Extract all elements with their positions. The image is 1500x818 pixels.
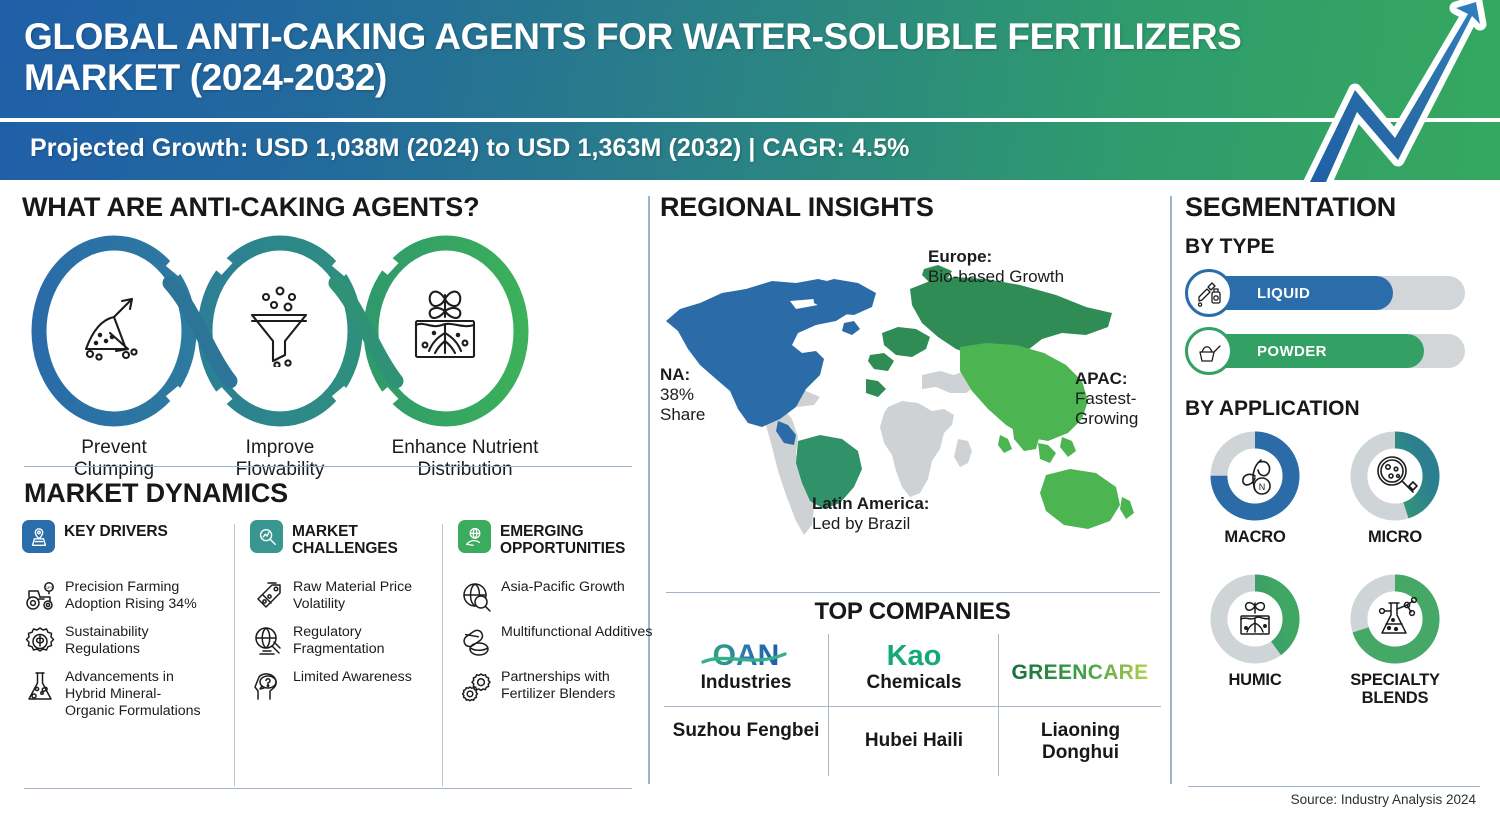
- flask-molecule-icon: [1369, 593, 1421, 645]
- infinity-loop-diagram: [22, 231, 632, 431]
- globe-hand-icon: [458, 520, 491, 553]
- segmentation-title: SEGMENTATION: [1185, 192, 1485, 223]
- what-are-item-1: Improve Flowability: [200, 437, 360, 481]
- what-are-item-2: Enhance Nutrient Distribution: [360, 437, 570, 481]
- kao-logo: Kao: [830, 638, 998, 672]
- list-item: Limited Awareness: [250, 669, 438, 705]
- market-challenges-column: MARKET CHALLENGES Raw Material Price Vol…: [250, 520, 438, 788]
- segmentation-section: SEGMENTATION BY TYPE LIQUID: [1185, 192, 1485, 719]
- donut-macro[interactable]: N MACRO: [1185, 429, 1325, 546]
- md-divider-1: [234, 524, 235, 786]
- key-drivers-header: KEY DRIVERS: [22, 520, 210, 570]
- field-location-pin-icon: [22, 520, 55, 553]
- divider-above-source: [1188, 786, 1480, 787]
- list-item: Raw Material Price Volatility: [250, 579, 438, 615]
- map-label-apac: APAC: Fastest-Growing: [1075, 369, 1170, 429]
- liquid-bar-label: LIQUID: [1257, 285, 1310, 302]
- magnifier-particles-icon: [1369, 450, 1421, 502]
- company-other-0: Suzhou Fengbei: [664, 720, 828, 742]
- tc-vline-4: [998, 706, 999, 776]
- powder-bar-track: [1207, 334, 1465, 368]
- divider-above-companies: [666, 592, 1160, 593]
- shovel-powder-arrow-icon: [70, 287, 156, 373]
- donut-macro-ring: N: [1208, 429, 1302, 523]
- top-companies-grid: OAN Industries Kao Chemicals GREENCA: [664, 634, 1161, 784]
- list-item-text: Partnerships with Fertilizer Blenders: [501, 669, 654, 703]
- world-map: NA: 38% Share Europe: Bio-based Growth A…: [660, 229, 1165, 589]
- emerging-opportunities-heading: EMERGING OPPORTUNITIES: [500, 520, 654, 557]
- donut-specialty-ring: [1348, 572, 1442, 666]
- market-challenges-heading: MARKET CHALLENGES: [292, 520, 438, 557]
- gears-icon: [458, 669, 494, 705]
- list-item-text: Asia-Pacific Growth: [501, 579, 625, 596]
- seedling-soil-icon: [1229, 593, 1281, 645]
- key-drivers-column: KEY DRIVERS GPS Precision Farming Adopti…: [22, 520, 210, 788]
- donut-macro-label: MACRO: [1185, 528, 1325, 546]
- by-application-heading: BY APPLICATION: [1185, 397, 1485, 421]
- divider-middle-right: [1170, 196, 1172, 784]
- svg-text:GREENCARE: GREENCARE: [1012, 661, 1149, 684]
- list-item: Partnerships with Fertilizer Blenders: [458, 669, 654, 705]
- company-other-1: Hubei Haili: [830, 730, 998, 752]
- svg-text:N: N: [1259, 482, 1266, 492]
- type-bar-liquid[interactable]: LIQUID: [1185, 269, 1470, 317]
- company-name-kao: Chemicals: [830, 672, 998, 694]
- emerging-opportunities-header: EMERGING OPPORTUNITIES: [458, 520, 654, 570]
- donut-specialty-label: SPECIALTY BLENDS: [1325, 671, 1465, 707]
- what-are-section: WHAT ARE ANTI-CAKING AGENTS?: [22, 192, 632, 495]
- globe-gavel-icon: [250, 624, 286, 660]
- company-other-2: Liaoning Donghui: [1000, 720, 1161, 765]
- globe-magnifier-icon: [458, 579, 494, 615]
- list-item-text: Regulatory Fragmentation: [293, 624, 438, 658]
- source-text: Source: Industry Analysis 2024: [1291, 792, 1476, 807]
- list-item: Advancements in Hybrid Mineral-Organic F…: [22, 669, 210, 720]
- page-title: GLOBAL ANTI-CAKING AGENTS FOR WATER-SOLU…: [24, 16, 1374, 99]
- donut-specialty-blends[interactable]: SPECIALTY BLENDS: [1325, 572, 1465, 707]
- application-donut-grid: N MACRO: [1185, 429, 1475, 719]
- list-item-text: Raw Material Price Volatility: [293, 579, 438, 613]
- svg-text:GPS: GPS: [45, 585, 54, 590]
- list-item: Regulatory Fragmentation: [250, 624, 438, 660]
- header-banner: GLOBAL ANTI-CAKING AGENTS FOR WATER-SOLU…: [0, 0, 1500, 118]
- dropper-bottle-icon: [1185, 269, 1233, 317]
- company-cell-oan: OAN Industries: [664, 638, 828, 694]
- list-item-text: Advancements in Hybrid Mineral-Organic F…: [65, 669, 210, 720]
- donut-micro-ring: [1348, 429, 1442, 523]
- regional-insights-section: REGIONAL INSIGHTS: [660, 192, 1165, 589]
- list-item-text: Limited Awareness: [293, 669, 412, 686]
- company-name-oan: Industries: [664, 672, 828, 694]
- market-dynamics-title: MARKET DYNAMICS: [24, 478, 288, 509]
- oan-logo: OAN: [664, 638, 828, 672]
- top-companies-title: TOP COMPANIES: [660, 598, 1165, 626]
- type-bar-powder[interactable]: POWDER: [1185, 327, 1470, 375]
- key-drivers-heading: KEY DRIVERS: [64, 520, 168, 540]
- gear-leaf-icon: [22, 624, 58, 660]
- tc-vline-3: [828, 706, 829, 776]
- tc-vline-1: [828, 634, 829, 706]
- what-are-item-0: Prevent Clumping: [34, 437, 194, 481]
- md-divider-2: [442, 524, 443, 786]
- donut-micro-label: MICRO: [1325, 528, 1465, 546]
- map-label-latam: Latin America: Led by Brazil: [812, 494, 1032, 534]
- magnifier-chart-icon: [250, 520, 283, 553]
- divider-under-loop: [24, 466, 632, 467]
- powder-bar-label: POWDER: [1257, 343, 1327, 360]
- leaf-nitrogen-icon: N: [1229, 450, 1281, 502]
- map-label-na: NA: 38% Share: [660, 365, 740, 425]
- what-are-title: WHAT ARE ANTI-CAKING AGENTS?: [22, 192, 632, 223]
- divider-bottom-left: [24, 788, 632, 789]
- tc-hline: [664, 706, 1161, 707]
- price-tag-percent-icon: [250, 579, 286, 615]
- svg-text:OAN: OAN: [713, 639, 780, 672]
- donut-humic-label: HUMIC: [1185, 671, 1325, 689]
- by-type-heading: BY TYPE: [1185, 235, 1485, 259]
- list-item-text: Sustainability Regulations: [65, 624, 210, 658]
- infographic-page: GLOBAL ANTI-CAKING AGENTS FOR WATER-SOLU…: [0, 0, 1500, 818]
- list-item-text: Precision Farming Adoption Rising 34%: [65, 579, 210, 613]
- donut-humic-ring: [1208, 572, 1302, 666]
- market-dynamics-grid: KEY DRIVERS GPS Precision Farming Adopti…: [22, 520, 638, 790]
- list-item: Asia-Pacific Growth: [458, 579, 654, 615]
- svg-text:Kao: Kao: [887, 640, 942, 672]
- donut-humic[interactable]: HUMIC: [1185, 572, 1325, 689]
- emerging-opportunities-column: EMERGING OPPORTUNITIES Asia-Pacific Grow…: [458, 520, 654, 788]
- donut-micro[interactable]: MICRO: [1325, 429, 1465, 546]
- head-question-icon: [250, 669, 286, 705]
- projected-growth-text: Projected Growth: USD 1,038M (2024) to U…: [30, 134, 909, 163]
- regional-insights-title: REGIONAL INSIGHTS: [660, 192, 1165, 223]
- capsule-tablet-icon: [458, 624, 494, 660]
- list-item: GPS Precision Farming Adoption Rising 34…: [22, 579, 210, 615]
- flask-minerals-icon: [22, 669, 58, 705]
- list-item: Sustainability Regulations: [22, 624, 210, 660]
- tc-vline-2: [998, 634, 999, 706]
- market-challenges-header: MARKET CHALLENGES: [250, 520, 438, 570]
- liquid-bar-track: [1207, 276, 1465, 310]
- plant-roots-soil-icon: [402, 283, 488, 369]
- subtitle-banner: Projected Growth: USD 1,038M (2024) to U…: [0, 122, 1500, 180]
- scoop-powder-icon: [1185, 327, 1233, 375]
- list-item: Multifunctional Additives: [458, 624, 654, 660]
- funnel-granules-icon: [236, 281, 322, 367]
- list-item-text: Multifunctional Additives: [501, 624, 652, 641]
- tractor-gps-icon: GPS: [22, 579, 58, 615]
- company-cell-kao: Kao Chemicals: [830, 638, 998, 694]
- map-label-europe: Europe: Bio-based Growth: [928, 247, 1118, 287]
- company-cell-greencare: GREENCARE: [1000, 654, 1161, 688]
- greencare-logo: GREENCARE: [1000, 654, 1161, 688]
